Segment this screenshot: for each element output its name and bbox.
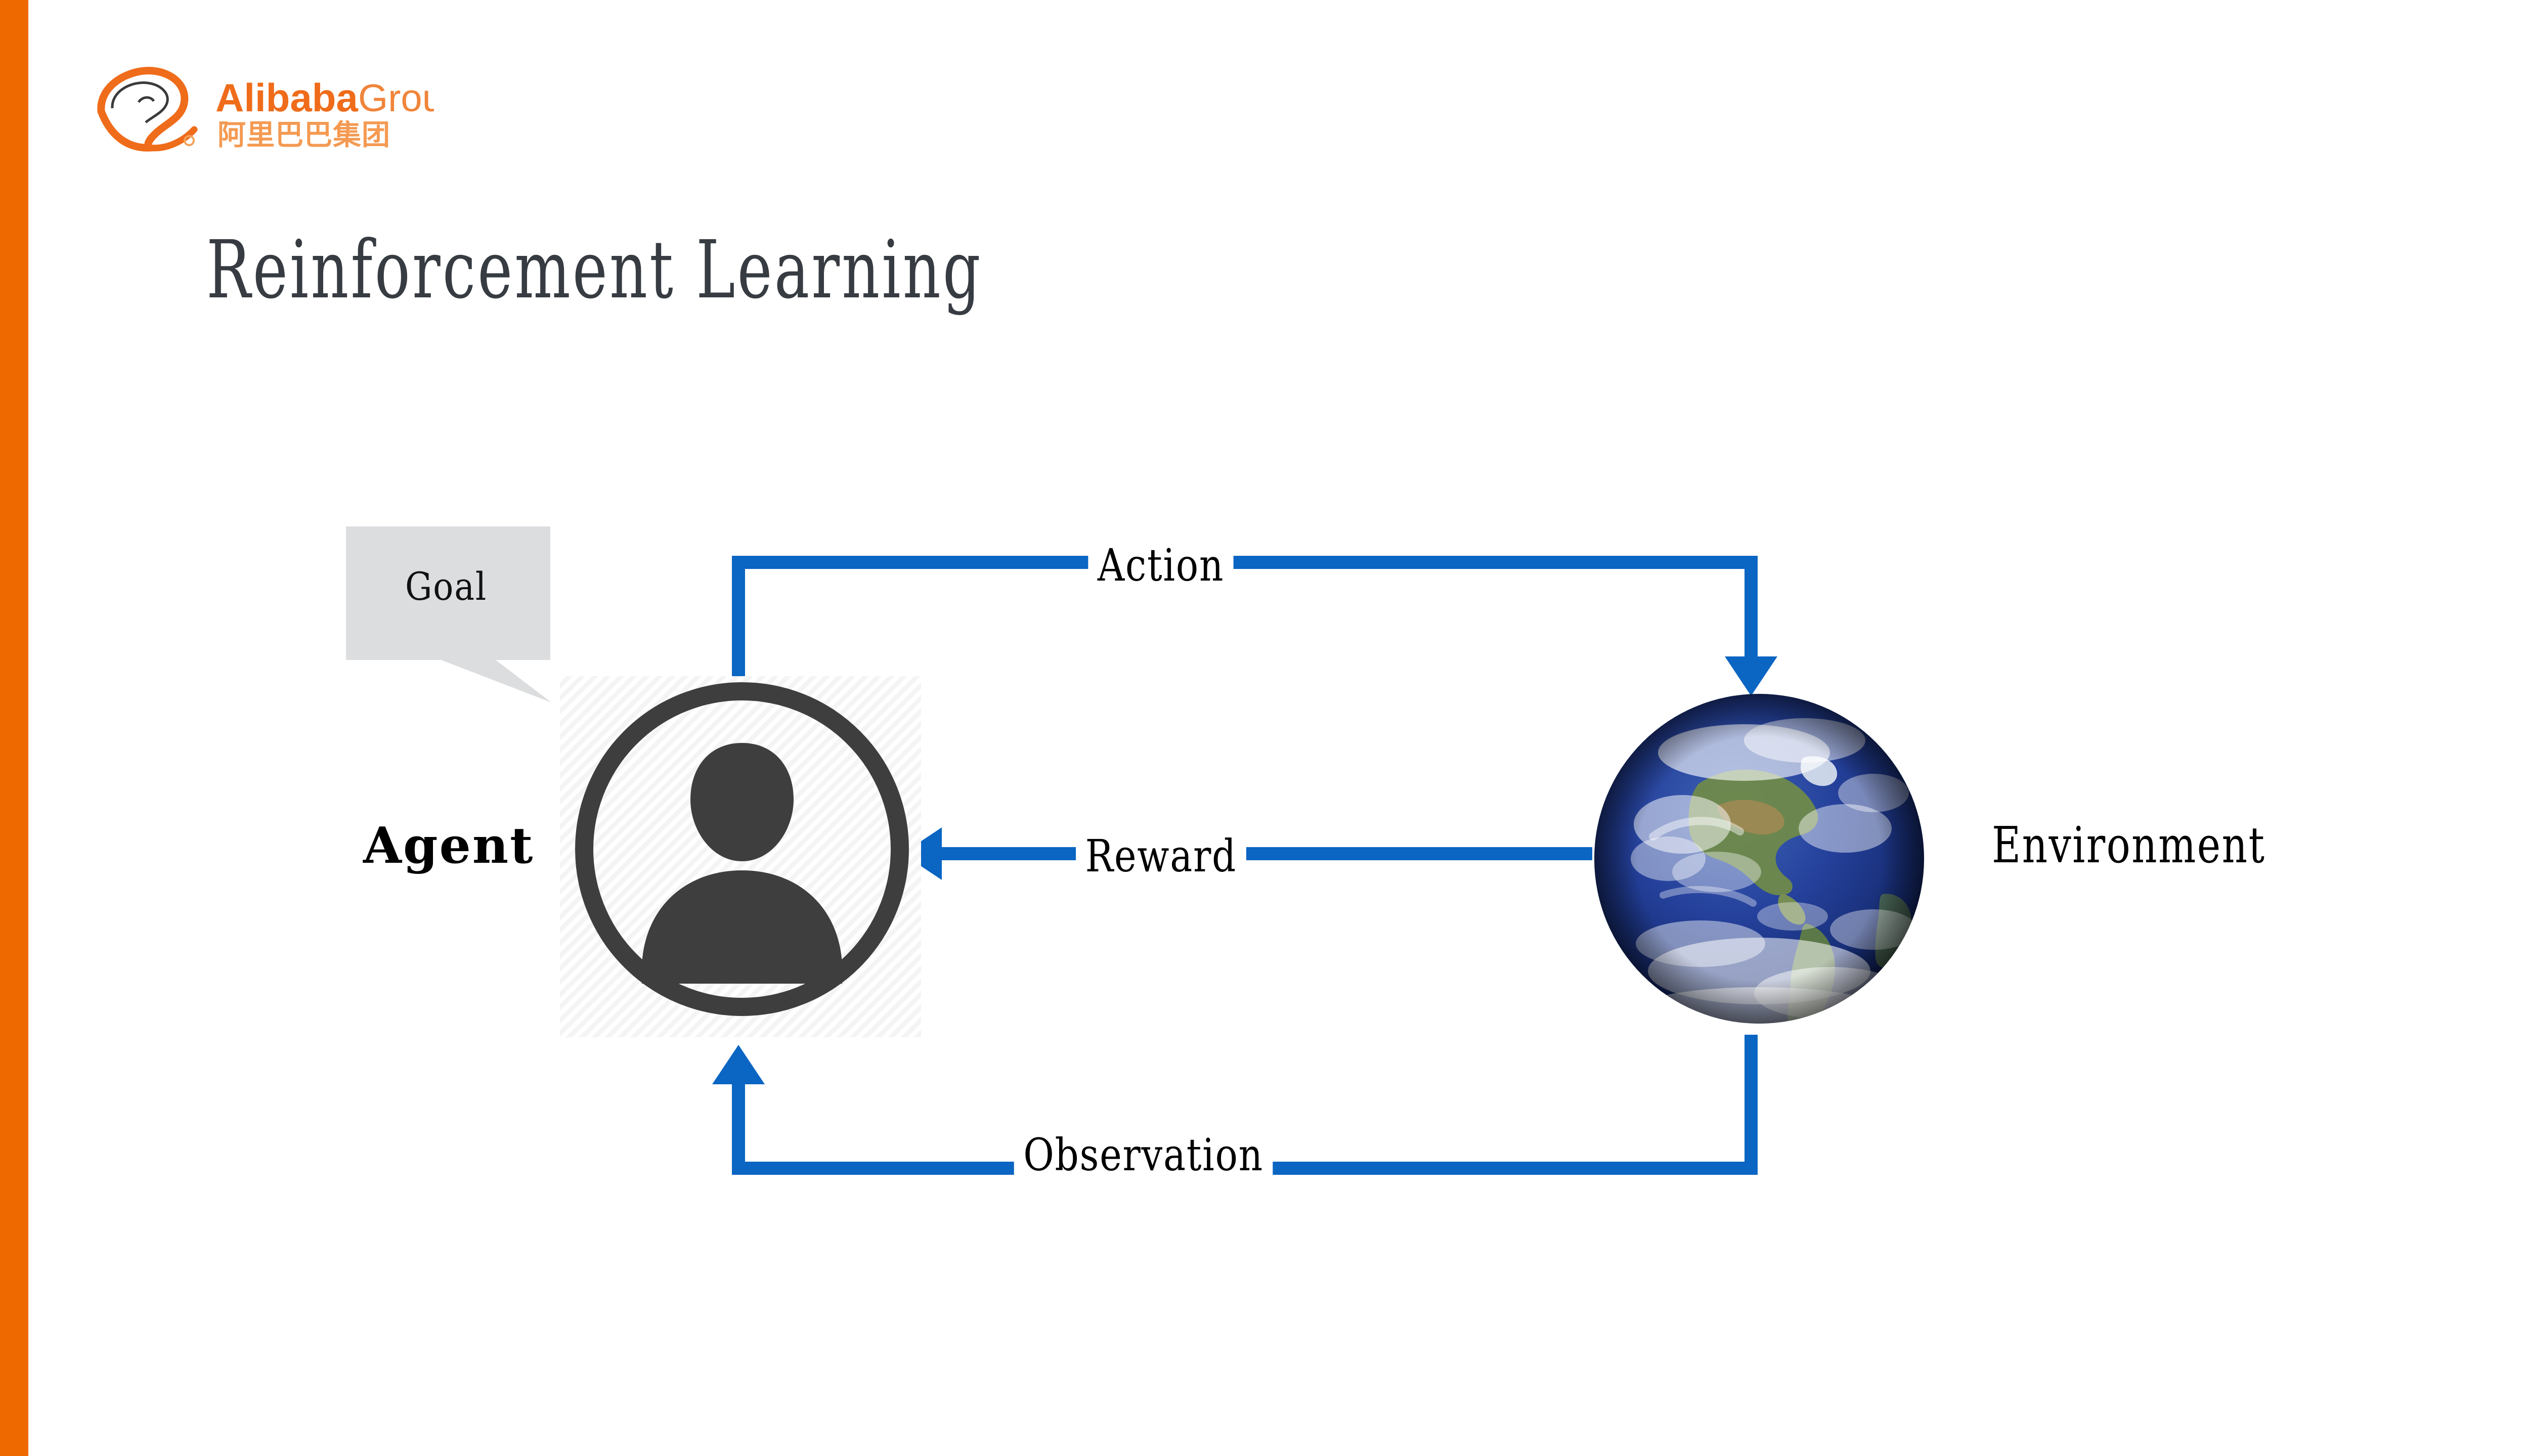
action-arrowhead-icon	[1725, 656, 1777, 696]
alibaba-swoosh-icon	[101, 71, 194, 148]
agent-label: Agent	[363, 817, 534, 875]
earth-globe-icon	[1592, 692, 1926, 1026]
environment-label: Environment	[1992, 817, 2265, 874]
logo-wordmark-light: Group	[358, 77, 434, 120]
goal-label: Goal	[356, 564, 536, 609]
person-in-circle-icon	[565, 672, 919, 1026]
edge-label-reward: Reward	[1076, 830, 1246, 882]
slide-canvas: Alibaba Group 阿里巴巴集团 Reinforcement Learn…	[0, 0, 2529, 1456]
rl-loop-diagram	[0, 0, 2529, 1456]
edge-reward	[902, 827, 1592, 880]
observation-arrowhead-icon	[712, 1045, 765, 1084]
left-accent-bar	[0, 0, 28, 1456]
edge-label-observation: Observation	[1014, 1129, 1273, 1181]
page-title: Reinforcement Learning	[206, 230, 983, 310]
logo-wordmark-cjk: 阿里巴巴集团	[217, 119, 390, 152]
logo-wordmark-bold: Alibaba	[215, 75, 358, 120]
alibaba-group-logo: Alibaba Group 阿里巴巴集团	[90, 65, 434, 156]
goal-callout: Goal	[344, 524, 569, 702]
edge-label-action: Action	[1088, 539, 1233, 591]
